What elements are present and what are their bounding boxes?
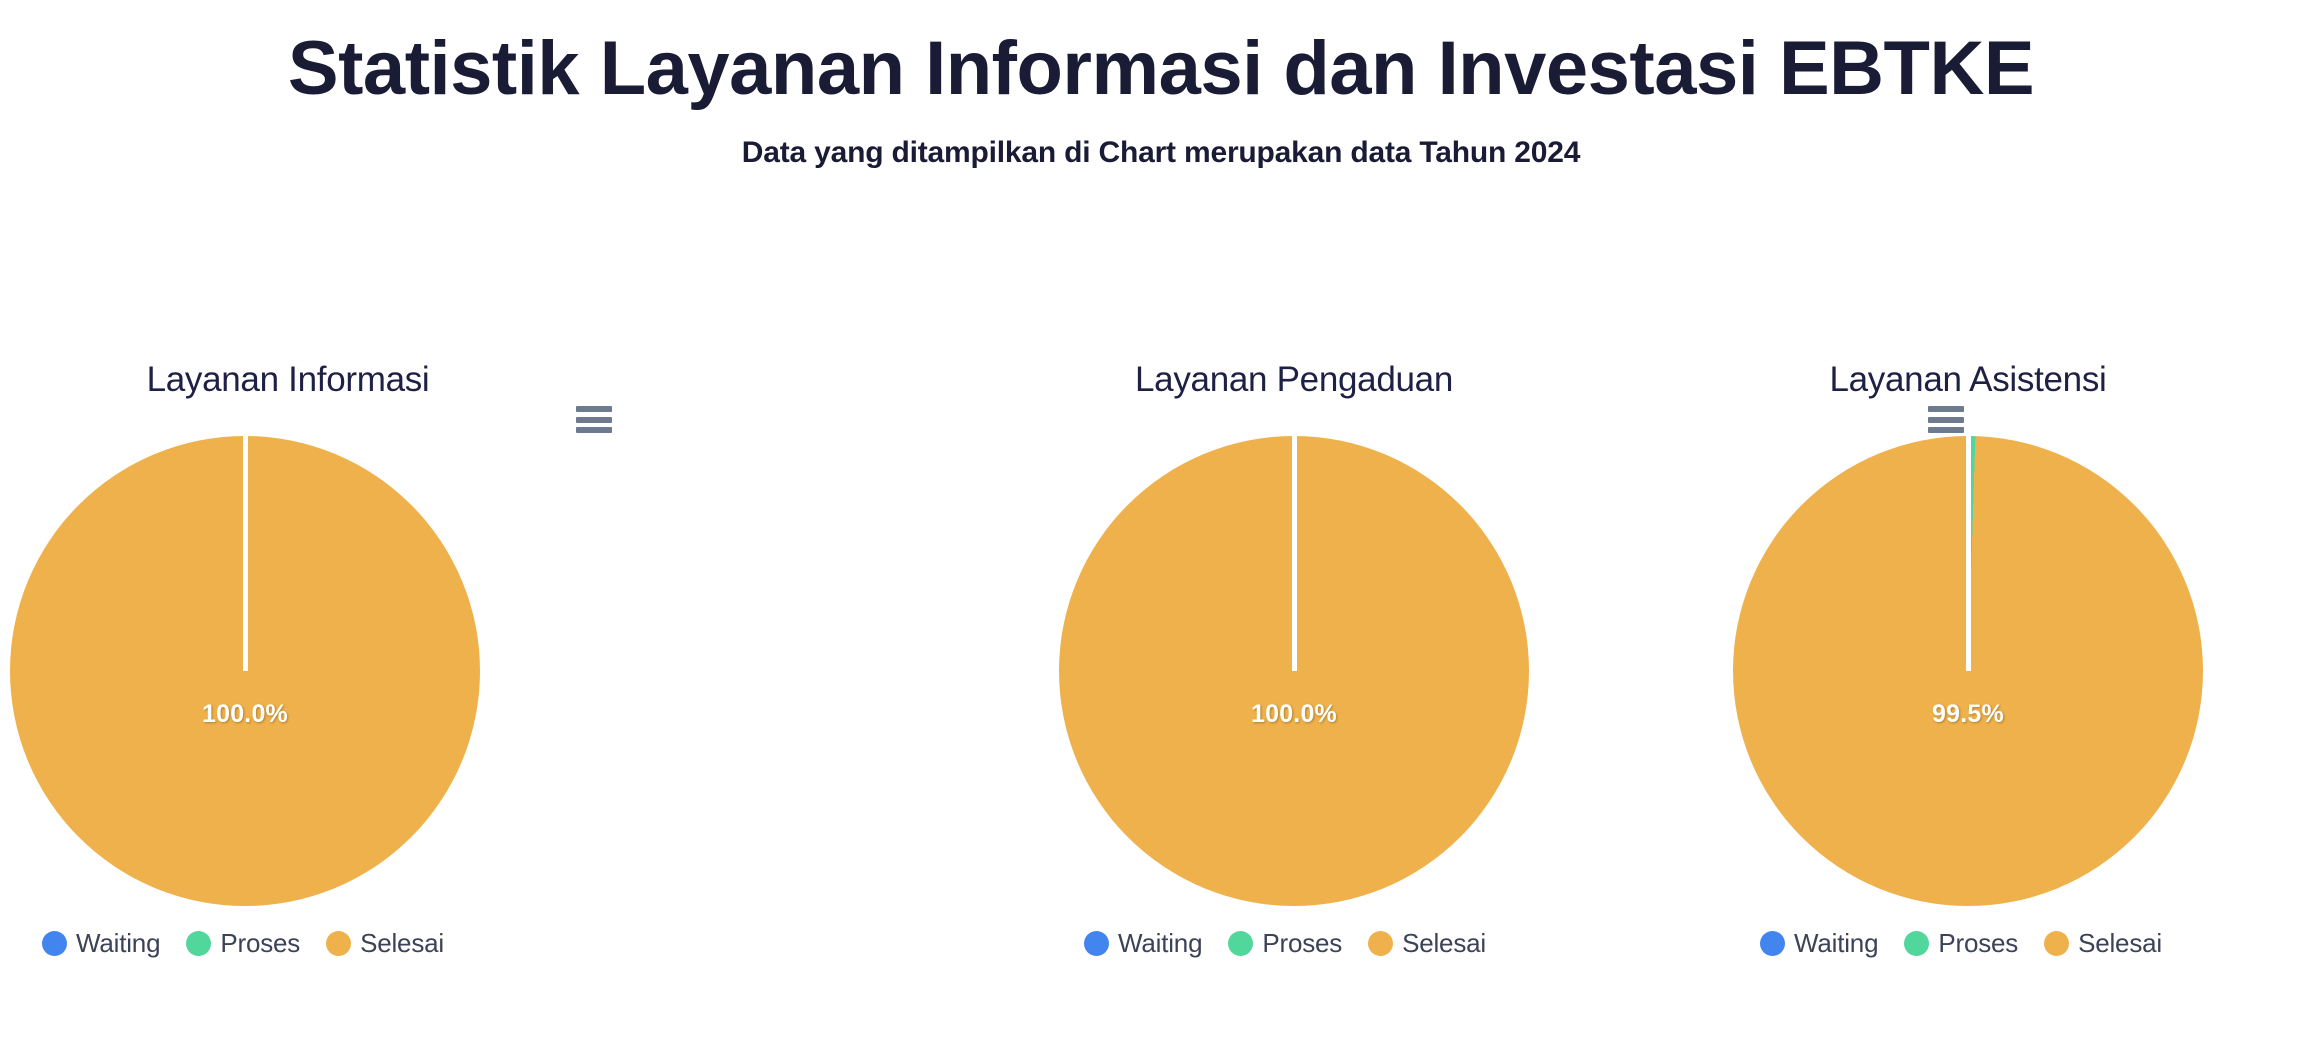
legend-color-dot [1084,931,1109,956]
legend-item-selesai[interactable]: Selesai [2044,928,2162,959]
legend-label: Selesai [2078,928,2162,959]
legend-color-dot [1760,931,1785,956]
chart-panel-layanan-pengaduan: Layanan Pengaduan 100.0% Waiting Proses … [774,340,1548,1040]
legend-color-dot [1904,931,1929,956]
menu-bar-2 [576,417,612,423]
chart-panel-layanan-informasi: Layanan Informasi 100.0% Waiting Proses … [0,340,774,1040]
legend-color-dot [1368,931,1393,956]
pie-data-label: 100.0% [10,700,480,729]
legend-label: Proses [220,928,300,959]
legend-label: Selesai [360,928,444,959]
legend-item-waiting[interactable]: Waiting [42,928,160,959]
legend-item-proses[interactable]: Proses [1228,928,1342,959]
pie-slice-divider [1292,436,1297,671]
chart-title: Layanan Asistensi [1618,360,2318,400]
pie-data-label: 100.0% [1059,700,1529,729]
legend-item-selesai[interactable]: Selesai [1368,928,1486,959]
pie-chart[interactable]: 99.5% [1733,436,2203,906]
pie-chart[interactable]: 100.0% [10,436,480,906]
chart-title: Layanan Informasi [0,360,638,400]
legend-item-waiting[interactable]: Waiting [1084,928,1202,959]
legend-label: Proses [1262,928,1342,959]
chart-legend: Waiting Proses Selesai [42,928,444,959]
legend-label: Proses [1938,928,2018,959]
pie-slice-divider [1966,436,1971,671]
menu-bar-1 [576,406,612,412]
page-subtitle: Data yang ditampilkan di Chart merupakan… [0,110,2322,170]
hamburger-menu-icon[interactable] [576,406,612,433]
legend-label: Waiting [1118,928,1202,959]
page-header: Statistik Layanan Informasi dan Investas… [0,0,2322,170]
pie-slice-divider [243,436,248,671]
chart-legend: Waiting Proses Selesai [1084,928,1486,959]
menu-bar-3 [576,427,612,433]
legend-color-dot [42,931,67,956]
legend-label: Waiting [1794,928,1878,959]
chart-title: Layanan Pengaduan [944,360,1644,400]
legend-item-proses[interactable]: Proses [186,928,300,959]
legend-color-dot [186,931,211,956]
legend-label: Selesai [1402,928,1486,959]
charts-container: Layanan Informasi 100.0% Waiting Proses … [0,340,2322,1040]
chart-panel-layanan-asistensi: Layanan Asistensi 99.5% Waiting Proses S… [1548,340,2322,1040]
chart-legend: Waiting Proses Selesai [1760,928,2162,959]
legend-color-dot [2044,931,2069,956]
pie-chart[interactable]: 100.0% [1059,436,1529,906]
pie-data-label: 99.5% [1733,700,2203,729]
legend-color-dot [326,931,351,956]
legend-label: Waiting [76,928,160,959]
legend-item-waiting[interactable]: Waiting [1760,928,1878,959]
legend-item-selesai[interactable]: Selesai [326,928,444,959]
legend-item-proses[interactable]: Proses [1904,928,2018,959]
page-title: Statistik Layanan Informasi dan Investas… [0,28,2322,110]
legend-color-dot [1228,931,1253,956]
